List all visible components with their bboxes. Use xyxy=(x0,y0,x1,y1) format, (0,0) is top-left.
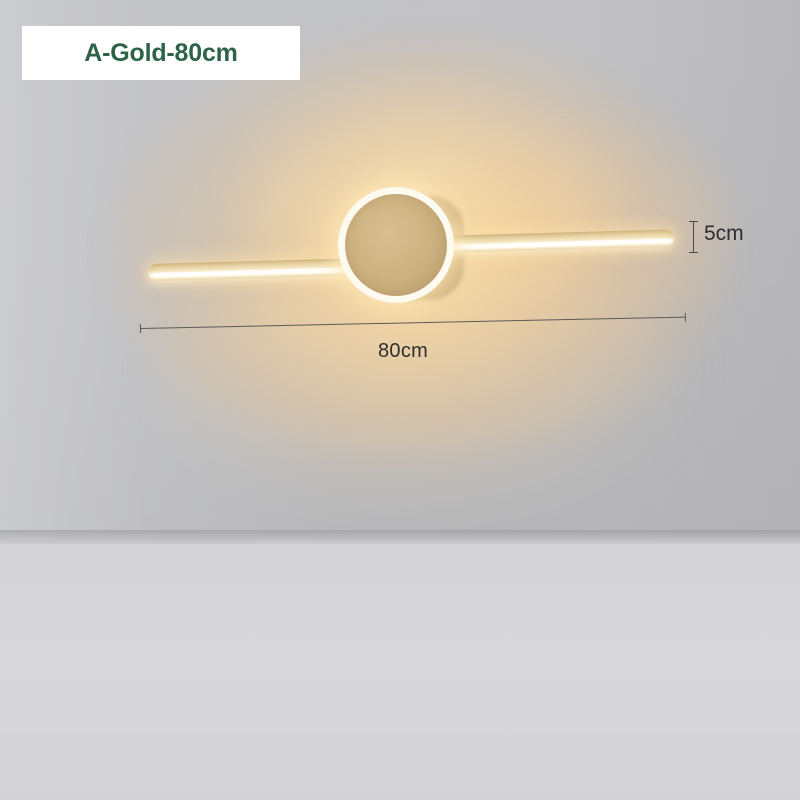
led-strip-right xyxy=(440,238,670,249)
height-dimension-bracket xyxy=(693,221,694,253)
lamp-bar-left xyxy=(148,258,364,281)
product-photo: 80cm 5cm xyxy=(0,0,800,544)
lamp-center-ring xyxy=(338,187,454,303)
dimension-cap-left xyxy=(140,324,141,333)
spec-panel-background: Color: Gold Size:D80cm*H5cm Material: Al… xyxy=(0,544,800,800)
lamp-bar-right xyxy=(436,229,674,253)
wall-lamp xyxy=(0,0,800,544)
dimension-cap-right xyxy=(685,313,686,322)
floor-baseboard xyxy=(0,530,800,544)
led-strip-left xyxy=(152,267,360,278)
variant-badge: A-Gold-80cm xyxy=(22,26,300,80)
variant-badge-label: A-Gold-80cm xyxy=(84,39,237,68)
product-listing-image: 80cm 5cm A-Gold-80cm Color: Gold Size:D8… xyxy=(0,0,800,800)
width-dimension-label: 80cm xyxy=(378,340,428,363)
height-dimension-label: 5cm xyxy=(704,222,744,246)
